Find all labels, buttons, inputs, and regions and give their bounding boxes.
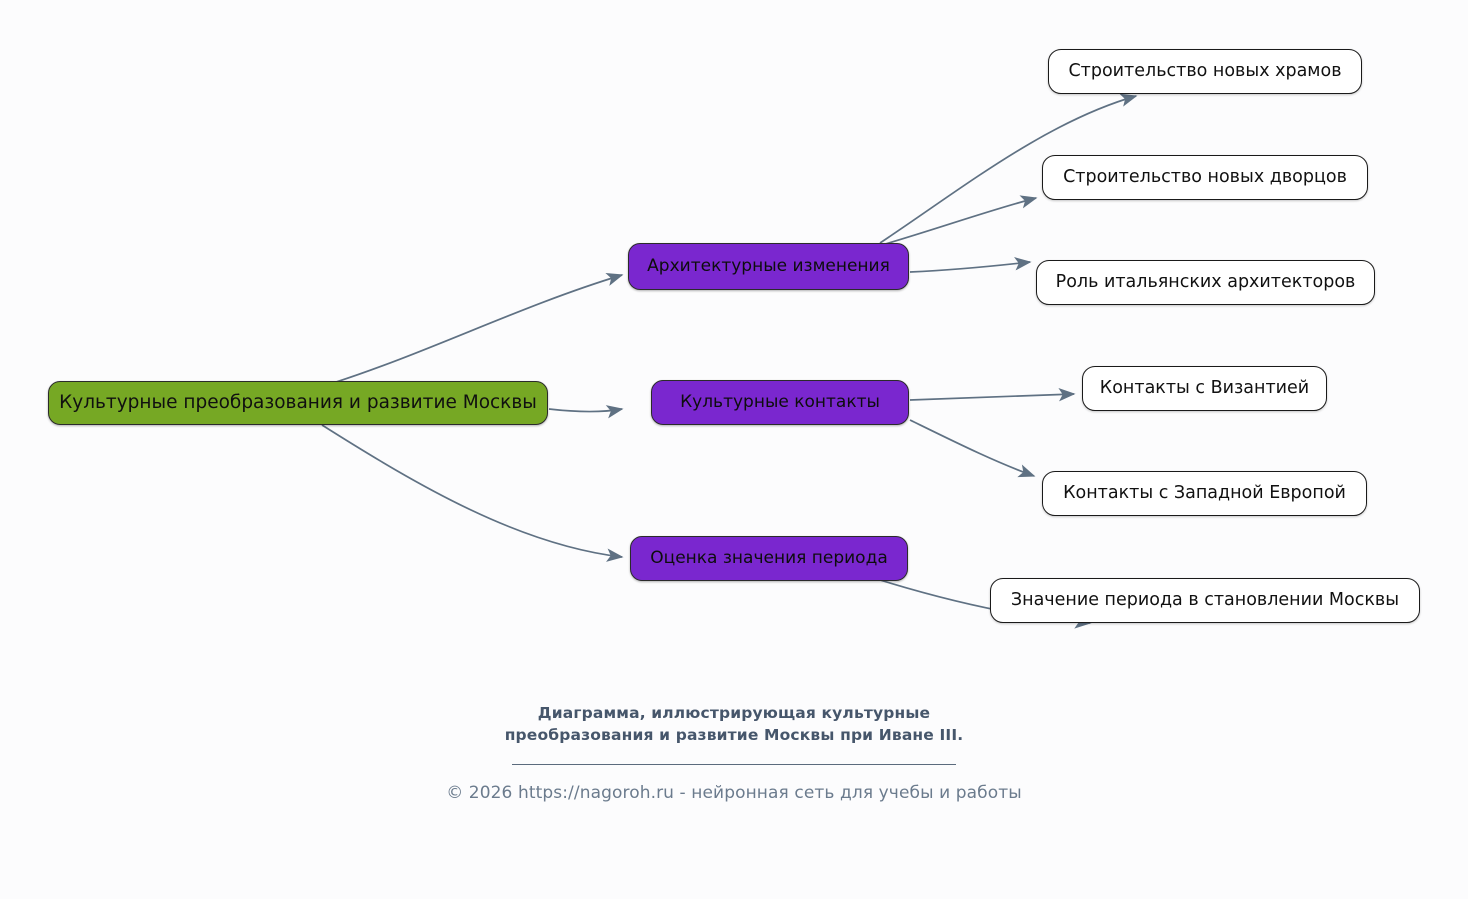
edge-root-to-architecture [330, 275, 622, 384]
edge-architecture-to-palaces [882, 198, 1036, 245]
node-branch-period-evaluation[interactable]: Оценка значения периода [630, 536, 908, 581]
edge-root-to-evaluation [322, 425, 622, 557]
edge-contacts-to-byzantium [910, 394, 1074, 400]
node-leaf-byzantium-contacts[interactable]: Контакты с Византией [1082, 366, 1327, 411]
node-leaf-new-palaces[interactable]: Строительство новых дворцов [1042, 155, 1368, 200]
node-branch-cultural-contacts[interactable]: Культурные контакты [651, 380, 909, 425]
node-branch-architecture[interactable]: Архитектурные изменения [628, 243, 909, 290]
node-leaf-period-significance[interactable]: Значение периода в становлении Москвы [990, 578, 1420, 623]
node-leaf-new-temples[interactable]: Строительство новых храмов [1048, 49, 1362, 94]
node-root[interactable]: Культурные преобразования и развитие Мос… [48, 381, 548, 425]
caption-divider [512, 764, 956, 765]
caption-footer: © 2026 https://nagoroh.ru - нейронная се… [0, 783, 1468, 803]
node-leaf-western-europe-contacts[interactable]: Контакты с Западной Европой [1042, 471, 1367, 516]
edge-architecture-to-italian-architects [910, 262, 1030, 272]
caption-title: Диаграмма, иллюстрирующая культурные пре… [484, 702, 984, 747]
edge-root-to-contacts [549, 409, 622, 412]
node-leaf-italian-architects[interactable]: Роль итальянских архитекторов [1036, 260, 1375, 305]
caption-block: Диаграмма, иллюстрирующая культурные пре… [0, 702, 1468, 803]
edge-contacts-to-western-europe [910, 420, 1034, 476]
